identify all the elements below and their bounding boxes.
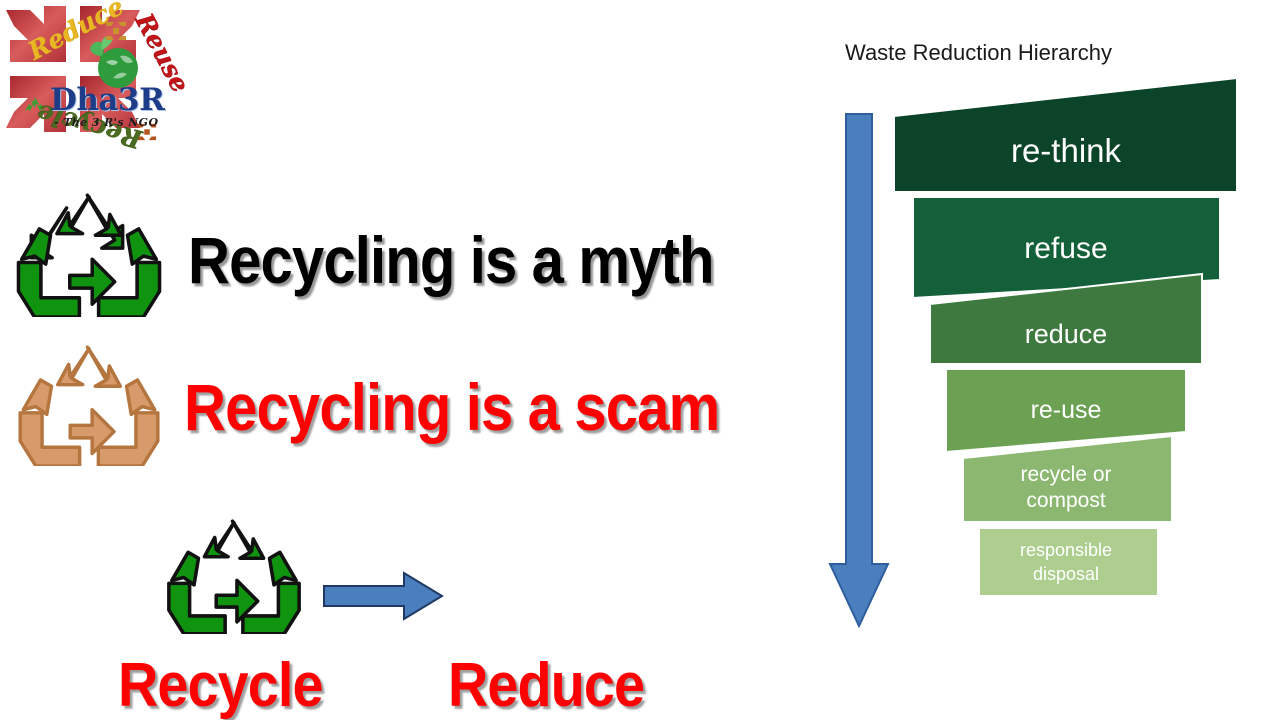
logo-brand-name: Dha3R	[50, 82, 164, 118]
hierarchy-level-1-label: re-think	[1011, 132, 1122, 169]
arrow-right-icon	[322, 570, 444, 622]
hierarchy-level-6: responsible disposal	[979, 528, 1158, 596]
hierarchy-level-2-label: refuse	[1024, 232, 1107, 265]
hierarchy-level-1: re-think	[894, 78, 1237, 192]
waste-hierarchy-funnel: re-think refuse reduce re-use recycle or…	[880, 62, 1250, 602]
dha3r-logo[interactable]: Reduce Reuse Recycle Dha3R - The 3 R's N…	[8, 4, 194, 184]
hierarchy-level-5-label-line1: recycle or	[1020, 463, 1111, 486]
comparison-label-recycle: Recycle	[118, 650, 323, 720]
hierarchy-level-5-label-line2: compost	[1026, 489, 1106, 512]
logo-tagline: - The 3 R's NGO	[54, 116, 158, 129]
recycle-symbol-tan-icon	[10, 344, 168, 466]
comparison-label-reduce: Reduce	[448, 650, 644, 720]
hierarchy-level-3-label: reduce	[1025, 319, 1108, 349]
hierarchy-level-4-label: re-use	[1031, 396, 1102, 424]
hierarchy-level-6-label-line2: disposal	[1033, 564, 1099, 584]
statement-recycling-is-a-myth: Recycling is a myth	[188, 222, 714, 298]
recycle-symbol-icon-large	[160, 518, 308, 634]
statement-recycling-is-a-scam: Recycling is a scam	[184, 369, 719, 445]
recycle-symbol-icon	[8, 192, 170, 317]
hierarchy-level-6-label-line1: responsible	[1020, 540, 1112, 560]
slide-canvas: Reduce Reuse Recycle Dha3R - The 3 R's N…	[0, 0, 1280, 720]
